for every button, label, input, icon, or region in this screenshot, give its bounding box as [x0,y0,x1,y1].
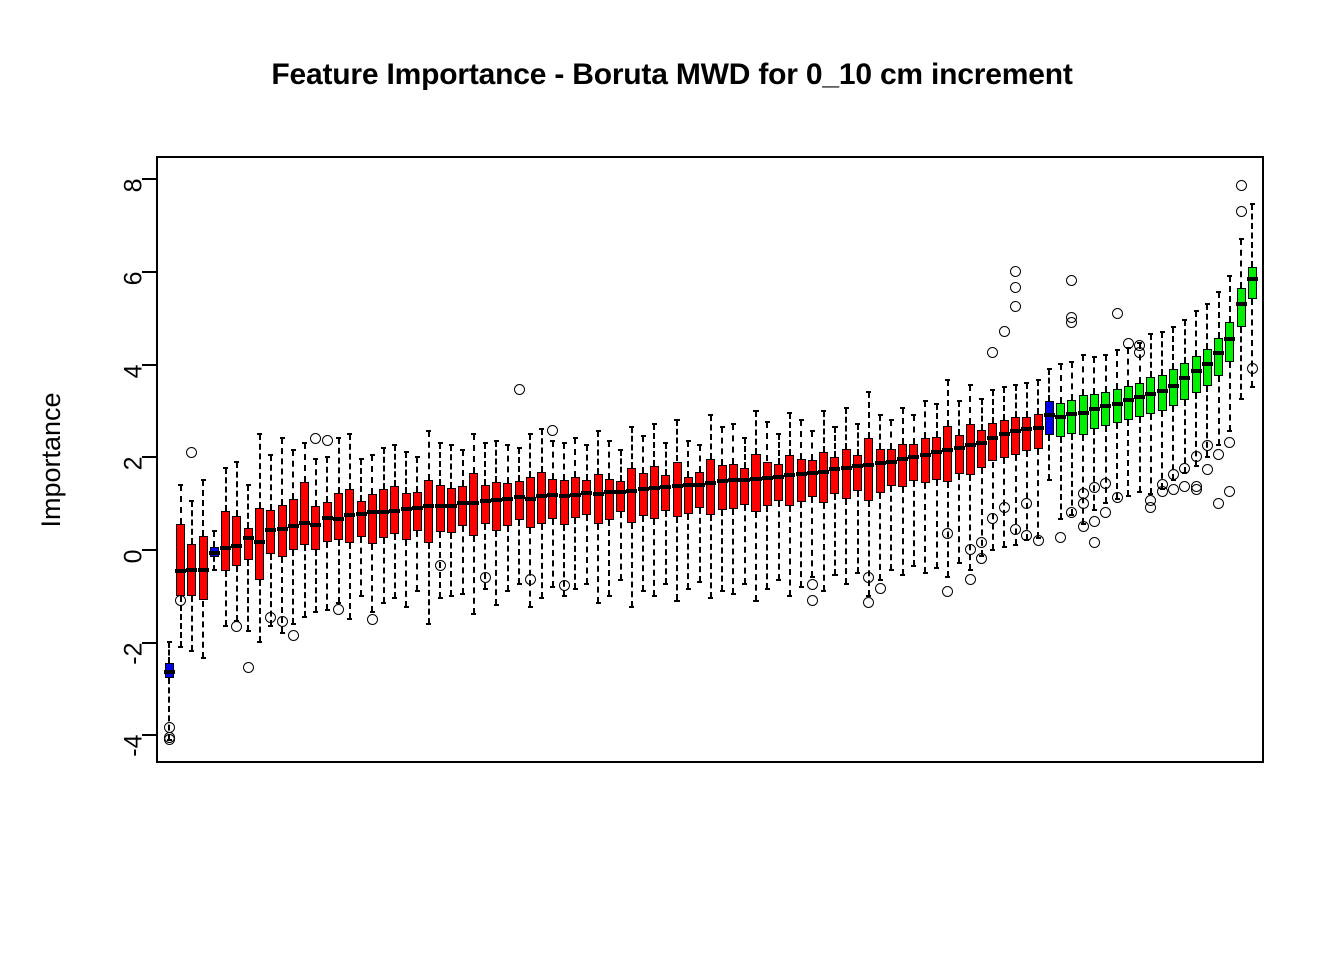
whisker-upper [168,642,170,663]
whisker-upper [620,450,622,482]
whisker-upper [1229,276,1231,322]
boxplot-rejected [537,158,546,765]
whisker-upper [270,455,272,511]
median-line [773,475,784,479]
boxplot-rejected [774,158,783,765]
outlier-point [863,597,874,608]
whisker-lower [586,515,588,585]
box-iqr [560,480,569,525]
median-line [1179,376,1190,380]
whisker-cap-lower [415,590,420,592]
whisker-lower [778,501,780,580]
median-line [717,479,728,483]
whisker-cap-lower [223,625,228,627]
whisker-upper [541,429,543,472]
median-line [1213,351,1224,355]
median-line [1021,427,1032,431]
box-iqr [706,459,715,515]
box-iqr [232,516,241,566]
boxplot-rejected [357,158,366,765]
median-line [536,494,547,498]
whisker-upper [992,390,994,423]
whisker-cap-upper [968,384,973,386]
whisker-cap-upper [753,410,758,412]
whisker-upper [890,420,892,449]
whisker-upper [1071,362,1073,400]
whisker-cap-lower [483,588,488,590]
whisker-upper [338,438,340,492]
boxplot-rejected [255,158,264,765]
median-line [604,490,615,494]
whisker-cap-upper [438,442,443,444]
whisker-upper [597,431,599,474]
whisker-cap-lower [945,576,950,578]
boxplot-rejected [515,158,524,765]
whisker-cap-upper [347,433,352,435]
median-line [739,478,750,482]
median-line [367,510,378,514]
whisker-upper [484,443,486,485]
whisker-upper [676,420,678,462]
outlier-point [1191,451,1202,462]
median-line [265,528,276,532]
outlier-point [1134,347,1145,358]
whisker-lower [845,499,847,585]
box-iqr [278,505,287,558]
whisker-upper [416,457,418,492]
whisker-lower [1116,423,1118,499]
box-iqr [481,485,490,524]
outlier-point [367,614,378,625]
median-line [209,551,220,555]
outlier-point [942,586,953,597]
whisker-upper [552,441,554,479]
whisker-cap-upper [223,467,228,469]
box-iqr [650,466,659,519]
box-iqr [966,424,975,475]
boxplot-rejected [458,158,467,765]
whisker-cap-upper [979,398,984,400]
whisker-cap-upper [832,426,837,428]
median-line [288,524,299,528]
box-iqr [300,482,309,545]
outlier-point [231,621,242,632]
median-line [581,491,592,495]
whisker-lower [450,533,452,596]
whisker-lower [383,538,385,603]
whisker-cap-lower [1013,544,1018,546]
box-iqr [751,454,760,513]
box-iqr [1214,338,1223,376]
outlier-point [875,583,886,594]
whisker-cap-upper [911,414,916,416]
boxplot-rejected [842,158,851,765]
boxplot-confirmed [1146,158,1155,765]
whisker-lower [1150,414,1152,494]
median-line [1123,398,1134,402]
whisker-cap-upper [855,423,860,425]
whisker-lower [292,550,294,624]
outlier-point [288,630,299,641]
median-line [525,497,536,501]
whisker-cap-lower [686,588,691,590]
whisker-upper [834,427,836,457]
boxplot-confirmed [1169,158,1178,765]
chart-page: Feature Importance - Boruta MWD for 0_10… [0,0,1344,960]
whisker-lower [789,506,791,595]
whisker-upper [1127,348,1129,386]
y-axis-tick-label: 6 [122,271,147,285]
median-line [796,472,807,476]
whisker-cap-lower [370,611,375,613]
box-iqr [221,511,230,571]
whisker-cap-lower [1137,491,1142,493]
whisker-lower [529,528,531,608]
whisker-cap-upper [426,430,431,432]
box-iqr [413,492,422,531]
median-line [897,457,908,461]
whisker-lower [676,517,678,600]
outlier-point [164,734,175,745]
boxplot-rejected [503,158,512,765]
whisker-cap-upper [674,419,679,421]
whisker-cap-upper [1205,303,1210,305]
boxplot-rejected [436,158,445,765]
whisker-cap-lower [1227,430,1232,432]
boxplot-rejected [560,158,569,765]
outlier-point [1010,301,1021,312]
median-line [1168,384,1179,388]
box-iqr [503,483,512,526]
outlier-point [1179,463,1190,474]
median-line [649,486,660,490]
whisker-lower [574,518,576,588]
box-iqr [1079,395,1088,435]
box-iqr [808,460,817,497]
whisker-cap-lower [742,583,747,585]
whisker-cap-lower [1058,518,1063,520]
outlier-point [1236,180,1247,191]
median-line [886,460,897,464]
whisker-cap-upper [471,433,476,435]
box-iqr [447,488,456,533]
box-iqr [909,444,918,481]
whisker-upper [1003,387,1005,419]
box-iqr [1225,322,1234,361]
whisker-lower [552,519,554,586]
whisker-upper [789,413,791,455]
whisker-lower [1048,435,1050,480]
boxplot-confirmed [1192,158,1201,765]
boxplot-rejected [289,158,298,765]
whisker-cap-lower [381,602,386,604]
whisker-upper [326,457,328,502]
whisker-upper [710,415,712,459]
whisker-lower [473,536,475,615]
whisker-upper [1150,334,1152,377]
plot-area [156,156,1264,763]
whisker-upper [586,445,588,480]
whisker-cap-upper [268,454,273,456]
median-line [1112,402,1123,406]
box-iqr [548,479,557,520]
whisker-cap-upper [900,407,905,409]
whisker-upper [823,411,825,453]
median-line [875,461,886,465]
whisker-lower [1127,420,1129,496]
median-line [762,476,773,480]
boxplot-rejected [492,158,501,765]
whisker-cap-upper [392,444,397,446]
whisker-cap-lower [968,569,973,571]
whisker-cap-upper [1216,291,1221,293]
whisker-cap-lower [776,579,781,581]
boxplot-confirmed [1067,158,1076,765]
whisker-cap-lower [302,616,307,618]
whisker-cap-upper [494,440,499,442]
whisker-cap-lower [212,569,217,571]
y-axis-tick-label: 2 [122,457,147,471]
boxplot-rejected [334,158,343,765]
whisker-lower [236,566,238,622]
whisker-cap-upper [923,400,928,402]
whisker-cap-upper [1036,379,1041,381]
outlier-point [277,616,288,627]
whisker-lower [371,544,373,613]
whisker-lower [902,487,904,575]
whisker-cap-upper [641,435,646,437]
whisker-cap-upper [1092,356,1097,358]
whisker-lower [811,497,813,577]
boxplot-rejected [988,158,997,765]
whisker-cap-lower [347,618,352,620]
median-line [1236,302,1247,306]
boxplot-rejected [300,158,309,765]
whisker-lower [247,560,249,630]
box-iqr [943,426,952,483]
median-line [626,489,637,493]
outlier-point [1123,338,1134,349]
whisker-lower [857,491,859,573]
whisker-upper [1251,204,1253,267]
whisker-upper [507,445,509,483]
outlier-point [863,572,874,583]
whisker-cap-upper [562,442,567,444]
whisker-cap-upper [201,479,206,481]
whisker-upper [653,424,655,466]
boxplot-rejected [729,158,738,765]
whisker-cap-lower [596,602,601,604]
whisker-cap-upper [629,426,634,428]
boxplot-rejected [921,158,930,765]
boxplot-confirmed [1214,158,1223,765]
median-line [818,470,829,474]
whisker-upper [947,380,949,425]
whisker-upper [191,501,193,544]
box-iqr [582,480,591,515]
box-iqr [718,465,727,510]
whisker-upper [811,431,813,460]
whisker-upper [1048,369,1050,401]
whisker-lower [495,531,497,605]
whisker-cap-upper [528,433,533,435]
whisker-cap-upper [460,449,465,451]
median-line [423,504,434,508]
whisker-cap-upper [596,430,601,432]
whisker-upper [766,422,768,461]
box-iqr [864,438,873,501]
outlier-point [987,347,998,358]
whisker-cap-lower [911,565,916,567]
whisker-cap-upper [652,423,657,425]
median-line [942,448,953,452]
boxplot-rejected [797,158,806,765]
box-iqr [1056,403,1065,437]
whisker-cap-lower [1216,444,1221,446]
boxplot-confirmed [1158,158,1167,765]
median-line [322,516,333,520]
whisker-cap-upper [1081,354,1086,356]
whisker-lower [326,542,328,610]
whisker-lower [1026,451,1028,540]
whisker-upper [450,445,452,488]
boxplot-rejected [1000,158,1009,765]
boxplot-rejected [176,158,185,765]
whisker-cap-lower [990,549,995,551]
whisker-upper [1082,355,1084,395]
whisker-upper [665,443,667,475]
box-iqr [492,482,501,531]
whisker-cap-lower [607,595,612,597]
whisker-lower [744,505,746,585]
box-iqr [1090,394,1099,429]
box-iqr [819,452,828,503]
boxplot-rejected [187,158,196,765]
whisker-cap-lower [392,597,397,599]
median-line [514,495,525,499]
outlier-point [1021,498,1032,509]
outlier-point [999,502,1010,513]
median-line [164,670,175,674]
whisker-upper [778,434,780,464]
boxplot-rejected [650,158,659,765]
whisker-cap-upper [449,444,454,446]
boxplot-rejected [955,158,964,765]
median-line [672,484,683,488]
outlier-point [1179,481,1190,492]
outlier-point [1078,521,1089,532]
median-line [231,544,242,548]
whisker-lower [1082,435,1084,524]
outlier-point [1202,464,1213,475]
page-title: Feature Importance - Boruta MWD for 0_10… [0,58,1344,92]
whisker-upper [518,448,520,482]
whisker-cap-upper [325,456,330,458]
median-line [344,513,355,517]
whisker-upper [383,448,385,490]
median-line [1157,389,1168,393]
whisker-upper [1240,239,1242,288]
whisker-cap-lower [1239,398,1244,400]
whisker-lower [349,543,351,619]
box-iqr [639,473,648,516]
whisker-upper [845,408,847,449]
outlier-point [1078,498,1089,509]
whisker-cap-upper [663,442,668,444]
whisker-cap-upper [359,458,364,460]
whisker-lower [1060,437,1062,519]
whisker-cap-lower [280,632,285,634]
whisker-cap-upper [1115,349,1120,351]
boxplot-rejected [763,158,772,765]
whisker-cap-upper [844,407,849,409]
median-line [976,441,987,445]
boxplot-rejected [481,158,490,765]
whisker-cap-lower [359,595,364,597]
whisker-cap-upper [990,389,995,391]
whisker-lower [653,519,655,595]
median-line [660,485,671,489]
boxplot-rejected [323,158,332,765]
whisker-lower [1071,434,1073,515]
whisker-cap-lower [494,604,499,606]
boxplot-rejected [819,158,828,765]
outlier-point [1089,482,1100,493]
median-line [254,540,265,544]
boxplot-confirmed [1124,158,1133,765]
box-iqr [616,481,625,512]
box-iqr [1248,267,1257,299]
boxplot-confirmed [1180,158,1189,765]
boxplot-rejected [740,158,749,765]
boxplot-rejected [244,158,253,765]
whisker-upper [1037,380,1039,413]
outlier-point [999,326,1010,337]
whisker-cap-lower [708,597,713,599]
boxplot-rejected [943,158,952,765]
whisker-cap-lower [313,611,318,613]
whisker-upper [1161,332,1163,375]
median-line [468,501,479,505]
whisker-lower [1229,362,1231,432]
boxplot-rejected [221,158,230,765]
median-line [277,527,288,531]
whisker-upper [721,427,723,465]
boxplot-confirmed [1056,158,1065,765]
median-line [480,499,491,503]
outlier-point [1089,516,1100,527]
boxplot-rejected [402,158,411,765]
whisker-cap-lower [1103,502,1108,504]
whisker-lower [405,540,407,607]
outlier-point [1010,266,1021,277]
whisker-lower [631,523,633,607]
boxplot-rejected [548,158,557,765]
whisker-upper [225,468,227,511]
boxplot-rejected [1011,158,1020,765]
whisker-cap-lower [471,613,476,615]
boxplot-rejected [469,158,478,765]
whisker-lower [936,480,938,568]
outlier-point [480,572,491,583]
whisker-cap-upper [257,433,262,435]
outlier-point [525,574,536,585]
median-line [728,478,739,482]
outlier-point [1066,275,1077,286]
median-line [1066,412,1077,416]
whisker-lower [642,516,644,592]
boxplot-rejected [864,158,873,765]
